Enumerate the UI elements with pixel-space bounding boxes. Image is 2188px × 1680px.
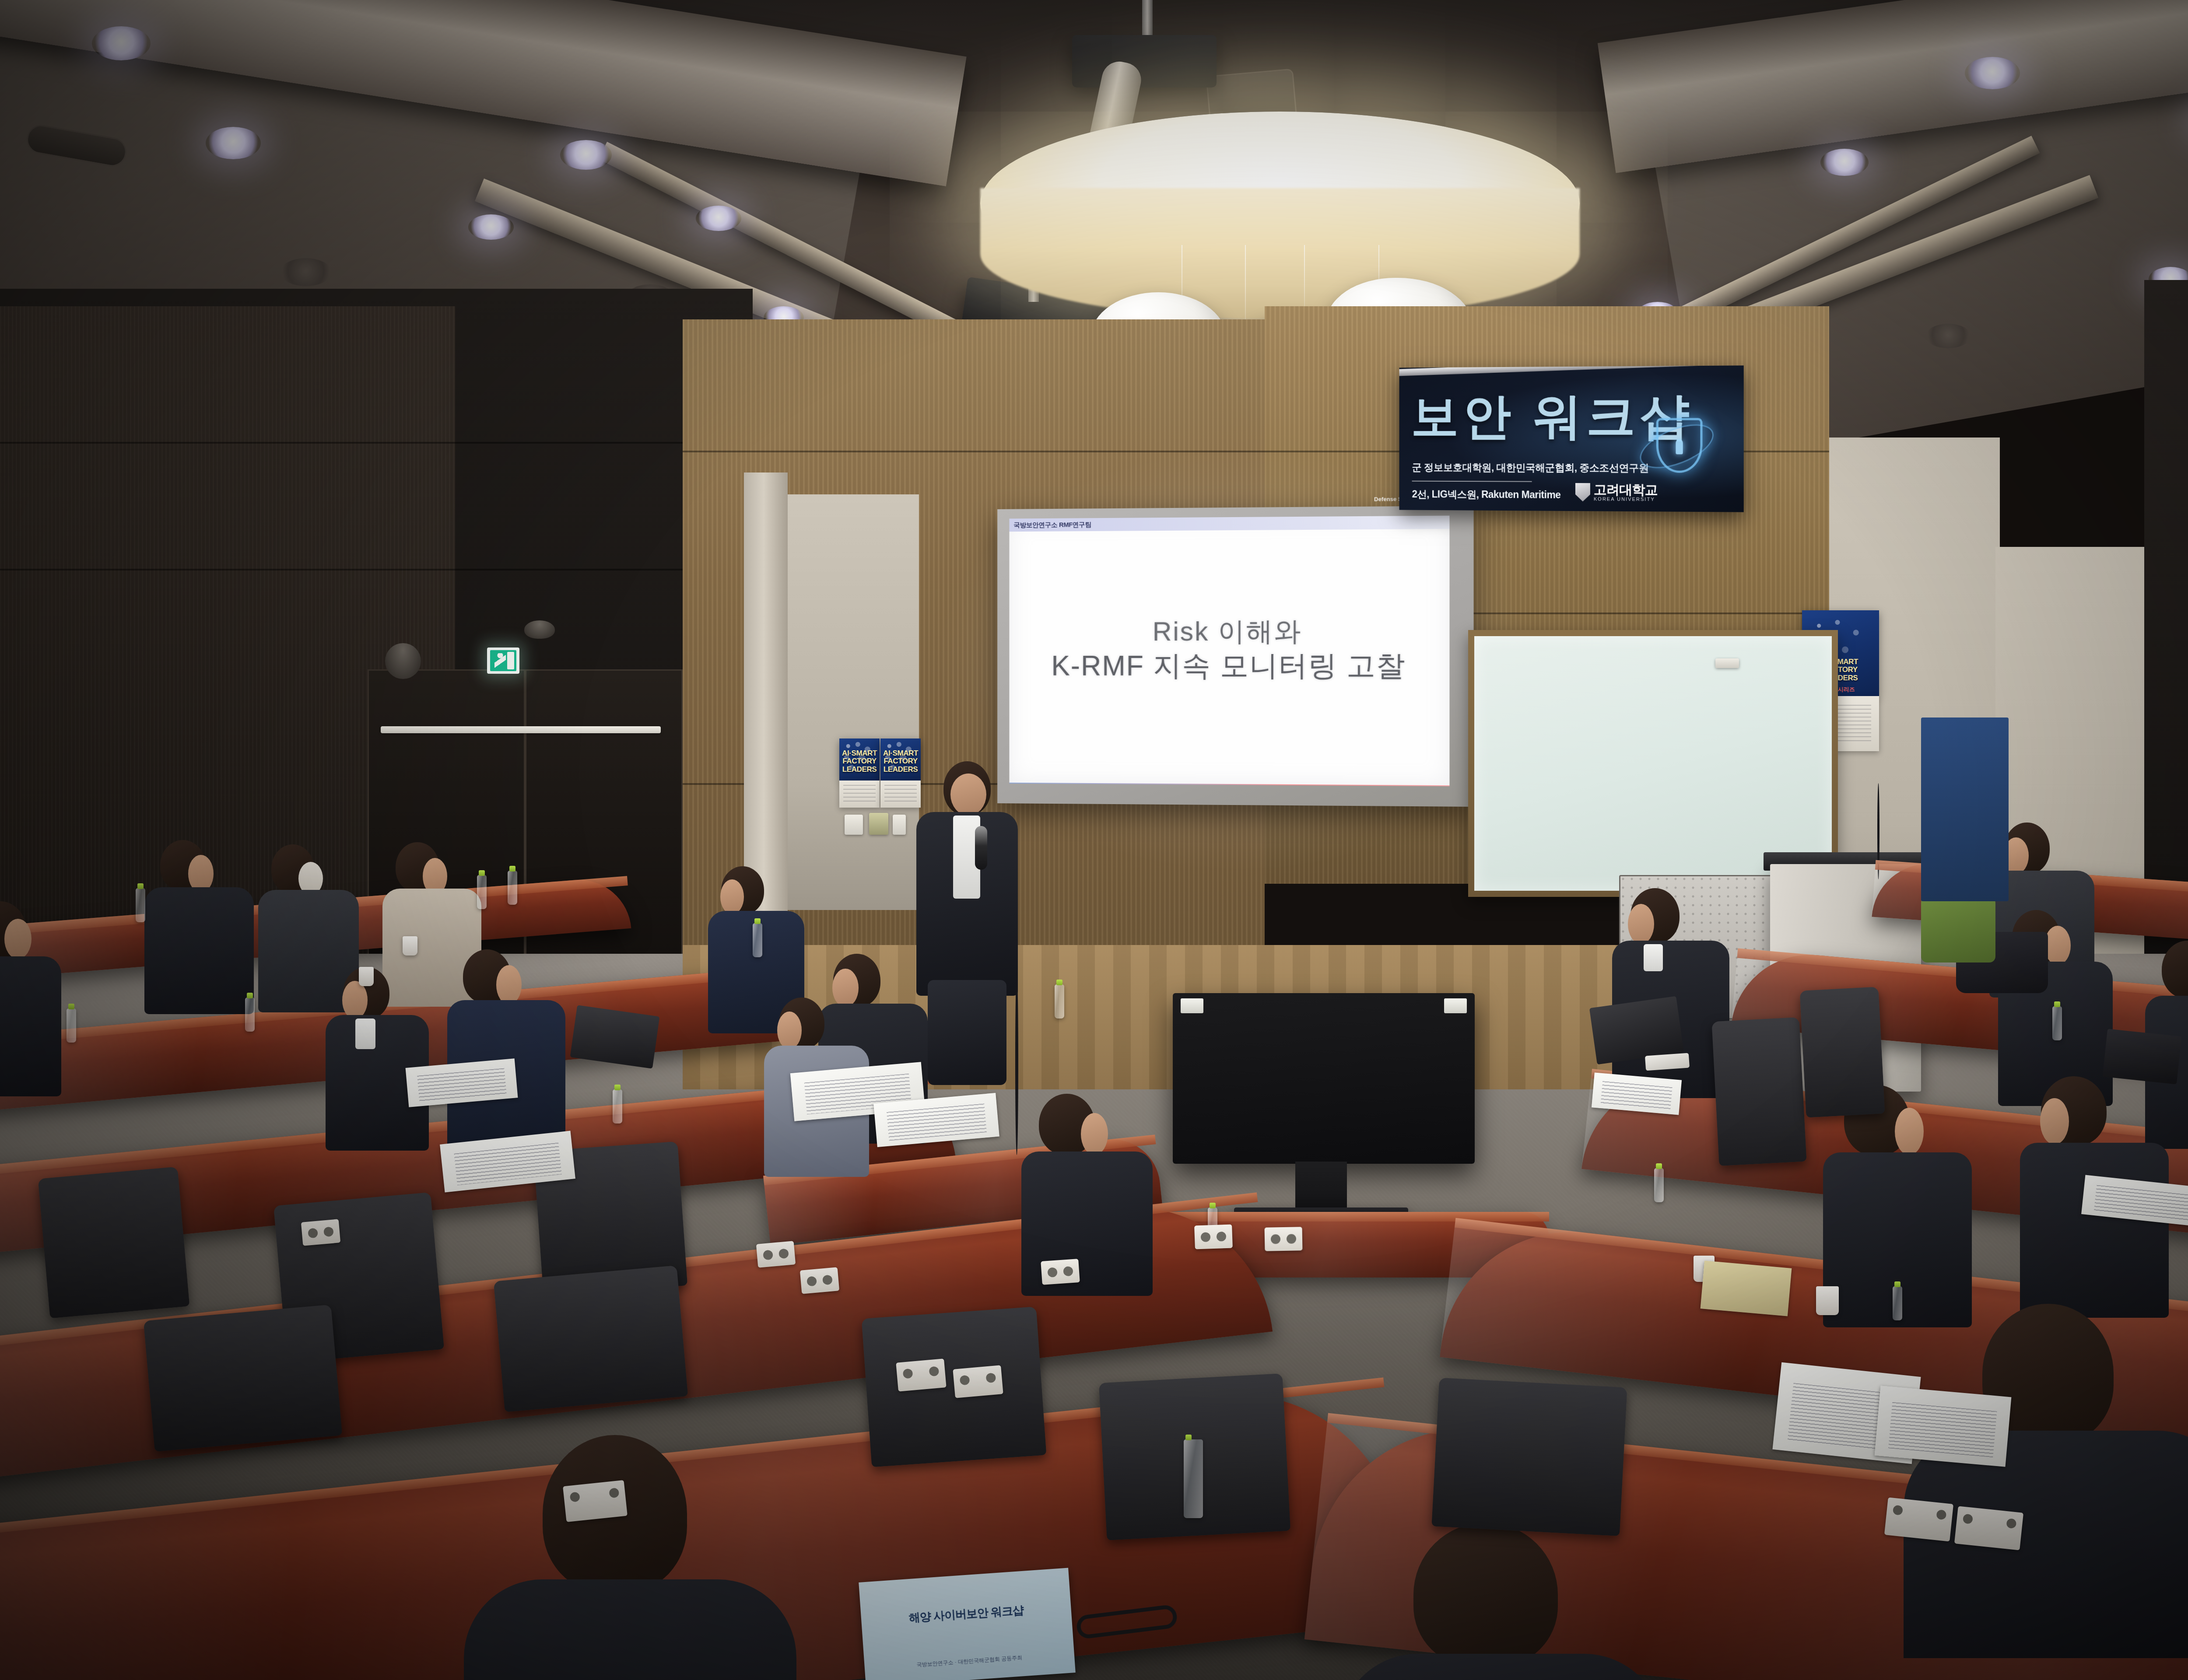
light-switch-panel-left[interactable] xyxy=(845,815,863,835)
ceiling-spotlight-5 xyxy=(92,26,151,60)
desk-power-outlet-7[interactable] xyxy=(953,1365,1003,1398)
event-program-booklet[interactable]: 해양 사이버보안 워크샵 국방보안연구소 · 대한민국해군협회 공동주최 xyxy=(859,1568,1076,1680)
event-banner: 보안 워크샵 군 정보보호대학원, 대한민국해군협회, 중소조선연구원 2선, … xyxy=(1399,365,1744,512)
slide-title-line1: Risk 이해와 xyxy=(1009,614,1449,648)
presenter-trousers xyxy=(928,980,1006,1085)
slide-header-left: 국방보안연구소 RMF연구팀 xyxy=(1013,521,1091,529)
desk-power-outlet-3[interactable] xyxy=(1041,1259,1080,1285)
water-bottle-9[interactable] xyxy=(1654,1168,1664,1202)
ceiling-spotlight-1 xyxy=(206,127,261,159)
attendee-face xyxy=(832,969,859,1007)
coffee-cup-2[interactable] xyxy=(403,936,417,955)
office-chair-2[interactable] xyxy=(1800,987,1885,1117)
water-bottle-3[interactable] xyxy=(136,888,145,922)
attendee-face xyxy=(2044,926,2071,965)
exit-sign-icon xyxy=(490,650,516,671)
coffee-cup-1[interactable] xyxy=(359,967,374,986)
desk-power-outlet-9[interactable] xyxy=(1884,1497,1953,1541)
attendee-torso xyxy=(2020,1143,2169,1318)
ceiling-spotlight-4 xyxy=(468,214,514,240)
banner-divider xyxy=(1412,481,1532,482)
attendee-collar xyxy=(1644,944,1663,971)
booklet-subtitle: 국방보안연구소 · 대한민국해군협회 공동주최 xyxy=(881,1652,1058,1671)
desk-power-outlet-2[interactable] xyxy=(756,1241,796,1267)
handout-text-lines xyxy=(417,1068,506,1102)
desk-power-outlet-8[interactable] xyxy=(563,1480,628,1522)
attendee-torso xyxy=(144,887,254,1014)
presenter-face xyxy=(950,773,986,815)
handout-right-2[interactable] xyxy=(1875,1386,2012,1467)
water-bottle-6[interactable] xyxy=(753,923,762,957)
green-chair-cushion xyxy=(1921,897,1995,962)
attendee-face xyxy=(342,981,368,1019)
monitor-neck xyxy=(1295,1162,1347,1214)
thermostat-panel[interactable] xyxy=(869,813,888,835)
wall-seam-2 xyxy=(0,569,744,570)
handout-text-lines xyxy=(1888,1402,1997,1457)
ceiling-spotlight-11 xyxy=(280,258,332,286)
university-crest-icon xyxy=(1575,483,1590,501)
window-blue-panel xyxy=(1921,717,2009,901)
banner-logo-english: KOREA UNIVERSITY xyxy=(1594,496,1658,502)
office-chair-9[interactable] xyxy=(1431,1378,1627,1536)
attendee-face xyxy=(1628,904,1654,944)
wall-center-seam-1 xyxy=(683,451,1265,452)
banner-hanging-rail xyxy=(1399,365,1744,376)
water-bottle-12[interactable] xyxy=(2052,1006,2062,1040)
desk-power-outlet-6[interactable] xyxy=(896,1358,946,1391)
desk-power-outlet-10[interactable] xyxy=(1954,1506,2023,1550)
handheld-microphone xyxy=(975,826,987,870)
emergency-exit-sign xyxy=(487,647,519,674)
water-bottle-7[interactable] xyxy=(1055,984,1064,1018)
attendee-head xyxy=(1413,1522,1558,1667)
smartphone[interactable] xyxy=(1645,1053,1690,1071)
projection-screen: 국방보안연구소 RMF연구팀 Risk 이해와 K-RMF 지속 모니터링 고찰… xyxy=(997,506,1473,807)
monitor-spec-label xyxy=(1444,998,1467,1013)
water-bottle-2[interactable] xyxy=(245,997,255,1032)
office-chair-6[interactable] xyxy=(38,1167,190,1319)
attendee-face xyxy=(1895,1108,1924,1155)
attendee-torso xyxy=(0,956,61,1096)
pendant-wire-2 xyxy=(1245,245,1246,324)
water-bottle-10[interactable] xyxy=(1893,1286,1902,1320)
attendee-collar xyxy=(355,1018,375,1049)
korea-university-logo: 고려대학교 KOREA UNIVERSITY xyxy=(1575,483,1658,502)
water-bottle-4[interactable] xyxy=(477,875,487,909)
poster-info-sheet-left xyxy=(839,780,880,808)
water-bottle-14[interactable] xyxy=(613,1089,622,1123)
ceiling-spotlight-6 xyxy=(1965,57,2020,89)
ceiling-spotlight-2 xyxy=(560,140,612,170)
attendee-torso xyxy=(1021,1151,1153,1296)
attendee-face xyxy=(777,1011,802,1049)
handout-text-lines xyxy=(887,1103,987,1141)
desk-power-outlet-5[interactable] xyxy=(1265,1227,1303,1251)
desk-power-outlet-11[interactable] xyxy=(800,1267,839,1294)
desk-power-outlet-1[interactable] xyxy=(301,1219,340,1246)
water-bottle-15[interactable] xyxy=(1184,1439,1203,1518)
attendee-face-glasses xyxy=(496,965,522,1004)
handout-text-lines xyxy=(1601,1081,1673,1110)
clock-round xyxy=(385,643,421,679)
slide-accent-rule xyxy=(1009,783,1449,786)
attendee-torso xyxy=(1904,1431,2188,1658)
attendee-face xyxy=(4,919,32,959)
wall-plaster-center-left xyxy=(783,494,919,910)
desk-power-outlet-4[interactable] xyxy=(1194,1225,1233,1249)
microphone-cable xyxy=(1015,971,1018,1155)
poster-sheet-lines xyxy=(843,785,876,804)
attendee-face xyxy=(1081,1113,1108,1155)
display-monitor-rear xyxy=(1173,993,1475,1164)
coffee-cup-5[interactable] xyxy=(1816,1286,1839,1315)
monitor-energy-label xyxy=(1181,998,1203,1013)
banner-logo-korean: 고려대학교 xyxy=(1594,483,1658,497)
ceiling-spotlight-8 xyxy=(1820,149,1869,176)
handout-text-lines xyxy=(2094,1185,2188,1221)
door-handle-bar[interactable] xyxy=(381,726,661,733)
poster-ai-smart-factory-left: AI·SMART FACTORY LEADERS xyxy=(839,738,880,780)
office-chair-10[interactable] xyxy=(494,1265,688,1412)
slide-title-line2: K-RMF 지속 모니터링 고찰 xyxy=(1009,648,1449,684)
shield-lock-icon xyxy=(1656,418,1703,473)
whiteboard-marker-tray xyxy=(1715,658,1739,668)
wall-seam-1 xyxy=(0,442,744,444)
banner-title: 보안 워크샵 xyxy=(1411,392,1694,441)
ceiling-projector-1 xyxy=(1072,35,1217,87)
attendee-face xyxy=(2040,1098,2069,1144)
attendee-face xyxy=(720,879,744,914)
banner-hosts: 군 정보보호대학원, 대한민국해군협회, 중소조선연구원 xyxy=(1412,461,1649,475)
office-chair-1[interactable] xyxy=(1712,1017,1807,1166)
presentation-slide: 국방보안연구소 RMF연구팀 Risk 이해와 K-RMF 지속 모니터링 고찰… xyxy=(1009,516,1449,787)
tablet-device[interactable] xyxy=(2103,1029,2182,1084)
booklet-title: 해양 사이버보안 워크샵 xyxy=(878,1600,1055,1628)
lecture-hall-photo: 국방보안연구소 RMF연구팀 Risk 이해와 K-RMF 지속 모니터링 고찰… xyxy=(0,0,2188,1680)
circular-ceiling-light-rim xyxy=(980,188,1580,319)
slide-header-bar: 국방보안연구소 RMF연구팀 xyxy=(1009,516,1449,532)
ceiling-spotlight-3 xyxy=(696,206,741,231)
ceiling-spotlight-15 xyxy=(1925,324,1971,348)
slide-title-block: Risk 이해와 K-RMF 지속 모니터링 고찰 xyxy=(1009,614,1449,684)
handout-text-lines xyxy=(454,1143,561,1185)
banner-partners: 2선, LIG넥스원, Rakuten Maritime xyxy=(1412,487,1561,502)
water-bottle-5[interactable] xyxy=(508,871,517,905)
snack-box[interactable] xyxy=(1701,1260,1792,1316)
attendee-torso xyxy=(464,1579,796,1680)
pendant-wire-3 xyxy=(1304,245,1305,311)
poster-title-left: AI·SMART FACTORY LEADERS xyxy=(842,749,877,774)
office-chair-11[interactable] xyxy=(144,1305,343,1452)
running-person-exit-icon xyxy=(494,653,506,669)
water-bottle-1[interactable] xyxy=(67,1008,76,1043)
dome-camera xyxy=(524,620,555,639)
